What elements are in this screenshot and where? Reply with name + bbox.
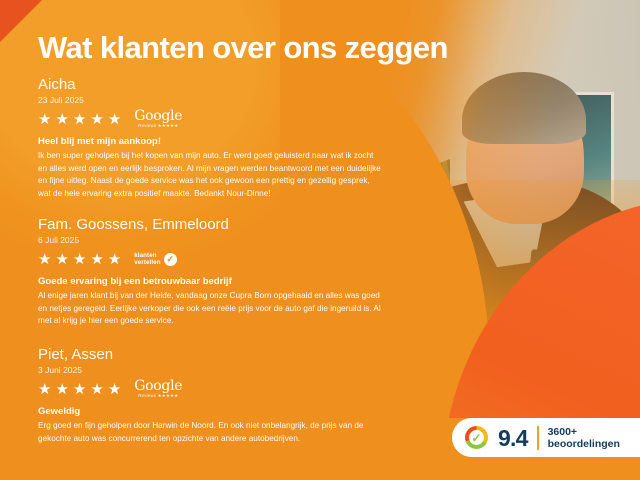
star-rating: ★ ★ ★ ★ ★ bbox=[38, 112, 122, 127]
review-banner: VDH Wat klanten over ons zeggen Aicha 23… bbox=[0, 0, 640, 480]
review-body: Al enige jaren klant bij van der Heide, … bbox=[38, 290, 383, 328]
check-icon: ✓ bbox=[471, 432, 481, 444]
klantenvertellen-icon: klanten vertellen ✓ bbox=[134, 252, 176, 266]
star-icon: ★ bbox=[73, 112, 87, 127]
review-title: Geweldig bbox=[38, 406, 388, 418]
rating-text-group: 3600+ beoordelingen bbox=[548, 426, 620, 450]
review-body: Erg goed en fijn geholpen door Harwin de… bbox=[38, 420, 383, 445]
review-card: Piet, Assen 3 Juni 2025 ★ ★ ★ ★ ★ Google… bbox=[38, 346, 388, 445]
rating-badge[interactable]: ✓ 9.4 3600+ beoordelingen bbox=[452, 418, 640, 457]
star-icon: ★ bbox=[108, 382, 122, 397]
review-body: Ik ben super geholpen bij het kopen van … bbox=[38, 150, 383, 200]
reviewer-name: Fam. Goossens, Emmeloord bbox=[38, 216, 388, 233]
star-icon: ★ bbox=[38, 252, 52, 267]
google-reviews-icon: Google Reviews ★★★★★ bbox=[134, 109, 182, 128]
review-meta: ★ ★ ★ ★ ★ Google Reviews ★★★★★ bbox=[38, 379, 388, 399]
star-icon: ★ bbox=[38, 112, 52, 127]
star-icon: ★ bbox=[108, 252, 122, 267]
star-icon: ★ bbox=[55, 382, 69, 397]
rating-label: beoordelingen bbox=[548, 438, 620, 450]
review-meta: ★ ★ ★ ★ ★ Google Reviews ★★★★★ bbox=[38, 109, 388, 129]
klantenvertellen-check-circle: ✓ bbox=[164, 253, 177, 266]
star-icon: ★ bbox=[73, 382, 87, 397]
page-title: Wat klanten over ons zeggen bbox=[38, 30, 448, 66]
star-icon: ★ bbox=[55, 112, 69, 127]
google-reviews-subtext: Reviews ★★★★★ bbox=[138, 394, 178, 398]
klantenvertellen-line1: klanten bbox=[134, 252, 156, 259]
star-rating: ★ ★ ★ ★ ★ bbox=[38, 382, 122, 397]
google-wordmark: Google bbox=[134, 109, 182, 123]
star-icon: ★ bbox=[73, 252, 87, 267]
star-icon: ★ bbox=[38, 382, 52, 397]
review-card: Aicha 23 Juli 2025 ★ ★ ★ ★ ★ Google Revi… bbox=[38, 76, 388, 200]
rating-divider bbox=[537, 426, 539, 450]
google-reviews-icon: Google Reviews ★★★★★ bbox=[134, 379, 182, 398]
content-layer: Wat klanten over ons zeggen Aicha 23 Jul… bbox=[0, 0, 640, 480]
star-rating: ★ ★ ★ ★ ★ bbox=[38, 252, 122, 267]
review-card: Fam. Goossens, Emmeloord 6 Juli 2025 ★ ★… bbox=[38, 216, 388, 328]
reviewer-name: Aicha bbox=[38, 76, 388, 93]
rating-score: 9.4 bbox=[498, 426, 528, 450]
klantenvertellen-wordmark: klanten vertellen bbox=[134, 252, 160, 266]
klantenvertellen-line2: vertellen bbox=[134, 259, 160, 266]
star-icon: ★ bbox=[90, 112, 104, 127]
review-meta: ★ ★ ★ ★ ★ klanten vertellen ✓ bbox=[38, 249, 388, 269]
check-icon: ✓ bbox=[166, 255, 174, 264]
review-title: Goede ervaring bij een betrouwbaar bedri… bbox=[38, 276, 388, 288]
review-date: 6 Juli 2025 bbox=[38, 235, 388, 246]
star-icon: ★ bbox=[90, 382, 104, 397]
star-icon: ★ bbox=[55, 252, 69, 267]
review-date: 23 Juli 2025 bbox=[38, 95, 388, 106]
star-icon: ★ bbox=[90, 252, 104, 267]
kiyoh-logo-icon: ✓ bbox=[464, 425, 489, 450]
reviewer-name: Piet, Assen bbox=[38, 346, 388, 363]
star-icon: ★ bbox=[108, 112, 122, 127]
google-wordmark: Google bbox=[134, 379, 182, 393]
google-reviews-subtext: Reviews ★★★★★ bbox=[138, 124, 178, 128]
review-date: 3 Juni 2025 bbox=[38, 365, 388, 376]
kiyoh-inner: ✓ bbox=[469, 430, 484, 445]
review-title: Heel blij met mijn aankoop! bbox=[38, 136, 388, 148]
rating-count: 3600+ bbox=[548, 426, 620, 438]
